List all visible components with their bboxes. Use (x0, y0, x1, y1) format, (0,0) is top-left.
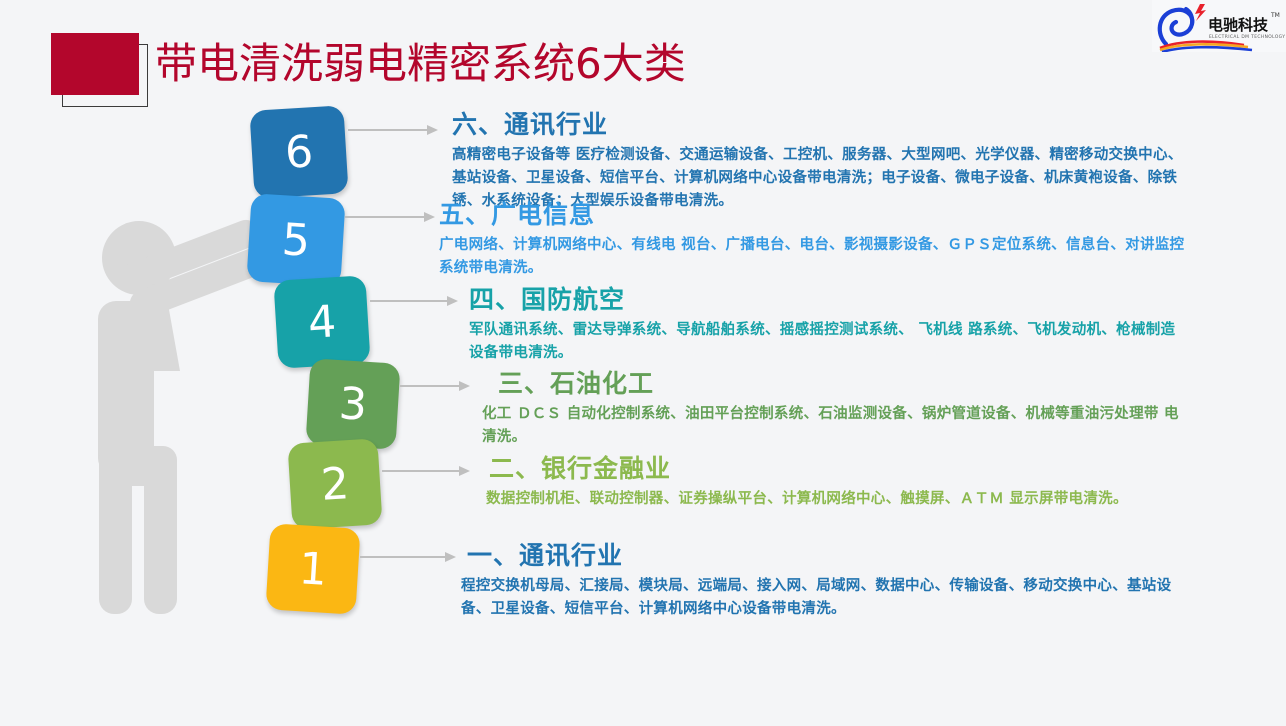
step-block-3[interactable]: 3 (305, 358, 400, 449)
section-6-heading: 六、通讯行业 (452, 110, 1188, 140)
connector-arrow-5 (345, 216, 435, 218)
section-4-body: 军队通讯系统、雷达导弹系统、导航船舶系统、摇感摇控测试系统、 飞机线 路系统、飞… (469, 319, 1187, 365)
step-block-4[interactable]: 4 (273, 275, 370, 368)
connector-line-4 (370, 300, 448, 302)
section-5-body: 广电网络、计算机网络中心、有线电 视台、广播电台、电台、影视摄影设备、ＧＰＳ定位… (439, 234, 1187, 280)
connector-arrow-1 (360, 556, 456, 558)
connector-arrow-4 (370, 300, 458, 302)
connector-line-6 (348, 129, 428, 131)
step-block-2-number: 2 (319, 458, 350, 511)
step-block-3-number: 3 (337, 378, 368, 431)
connector-arrow-6 (348, 129, 438, 131)
svg-text:电驰科技: 电驰科技 (1208, 16, 1269, 34)
section-2: 二、银行金融业 数据控制机柜、联动控制器、证券操纵平台、计算机网络中心、触摸屏、… (489, 454, 1189, 511)
page-title: 带电清洗弱电精密系统6大类 (155, 38, 686, 90)
connector-head-3 (459, 381, 470, 391)
connector-head-2 (459, 466, 470, 476)
connector-head-1 (445, 552, 456, 562)
connector-line-5 (345, 216, 425, 218)
logo-graphic: 电驰科技 TM ELECTRICAL DM TECHNOLOGY (1152, 0, 1286, 52)
connector-line-1 (360, 556, 446, 558)
section-6: 六、通讯行业 高精密电子设备等 医疗检测设备、交通运输设备、工控机、服务器、大型… (452, 110, 1188, 213)
step-block-1-number: 1 (297, 543, 328, 596)
section-2-body: 数据控制机柜、联动控制器、证券操纵平台、计算机网络中心、触摸屏、ＡＴＭ 显示屏带… (486, 488, 1189, 511)
step-block-5[interactable]: 5 (246, 193, 345, 287)
section-5: 五、广电信息 广电网络、计算机网络中心、有线电 视台、广播电台、电台、影视摄影设… (439, 200, 1187, 280)
section-1-heading: 一、通讯行业 (467, 541, 1187, 571)
svg-text:ELECTRICAL DM TECHNOLOGY: ELECTRICAL DM TECHNOLOGY (1209, 34, 1285, 40)
section-5-heading: 五、广电信息 (439, 200, 1187, 230)
svg-text:TM: TM (1270, 12, 1280, 19)
connector-head-4 (447, 296, 458, 306)
section-3: 三、石油化工 化工 ＤＣＳ 自动化控制系统、油田平台控制系统、石油监测设备、锅炉… (498, 369, 1188, 449)
step-block-1[interactable]: 1 (265, 523, 360, 614)
slide-canvas: 电驰科技 TM ELECTRICAL DM TECHNOLOGY 带电清洗弱电精… (0, 0, 1286, 726)
step-block-2[interactable]: 2 (287, 438, 382, 529)
section-4-heading: 四、国防航空 (469, 285, 1187, 315)
connector-arrow-2 (382, 470, 470, 472)
title-red-box (51, 33, 139, 95)
section-2-heading: 二、银行金融业 (489, 454, 1189, 484)
section-4: 四、国防航空 军队通讯系统、雷达导弹系统、导航船舶系统、摇感摇控测试系统、 飞机… (469, 285, 1187, 365)
company-logo: 电驰科技 TM ELECTRICAL DM TECHNOLOGY (1152, 0, 1286, 52)
section-3-heading: 三、石油化工 (498, 369, 1188, 399)
connector-line-2 (382, 470, 460, 472)
connector-arrow-3 (400, 385, 470, 387)
step-block-6-number: 6 (283, 126, 314, 179)
step-block-6[interactable]: 6 (249, 105, 348, 199)
section-1-body: 程控交换机母局、汇接局、模块局、远端局、接入网、局域网、数据中心、传输设备、移动… (461, 575, 1187, 621)
step-block-4-number: 4 (306, 296, 337, 349)
connector-head-6 (427, 125, 438, 135)
connector-head-5 (424, 212, 435, 222)
section-1: 一、通讯行业 程控交换机母局、汇接局、模块局、远端局、接入网、局域网、数据中心、… (467, 541, 1187, 621)
step-block-5-number: 5 (280, 214, 311, 267)
section-3-body: 化工 ＤＣＳ 自动化控制系统、油田平台控制系统、石油监测设备、锅炉管道设备、机械… (482, 403, 1188, 449)
connector-line-3 (400, 385, 460, 387)
